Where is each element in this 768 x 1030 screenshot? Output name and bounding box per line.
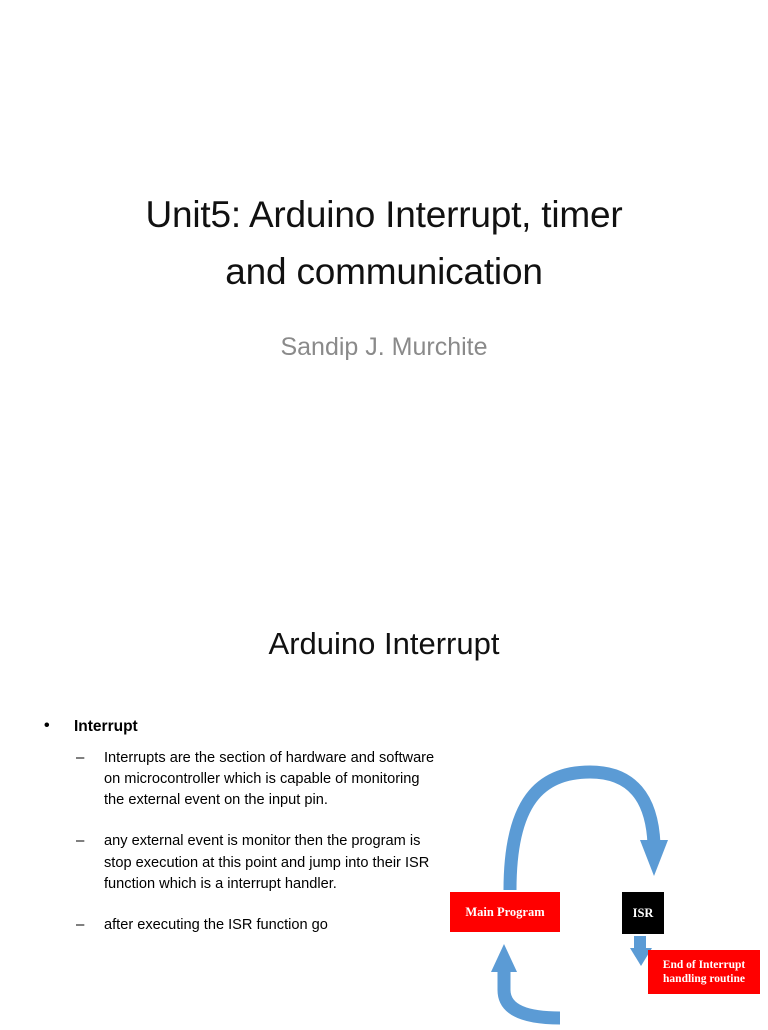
presentation-author: Sandip J. Murchite bbox=[60, 333, 708, 362]
list-item-text: Interrupts are the section of hardware a… bbox=[104, 750, 434, 808]
diagram-box-isr-label: ISR bbox=[633, 906, 654, 921]
sub-bullet-list: – Interrupts are the section of hardware… bbox=[70, 748, 440, 956]
content-slide: Arduino Interrupt • Interrupt – Interrup… bbox=[0, 600, 768, 1024]
arrow-return-head bbox=[491, 944, 517, 972]
interrupt-flow-diagram: Main Program ISR End of Interrupt handli… bbox=[440, 740, 760, 1030]
bullet-interrupt: • Interrupt bbox=[38, 718, 438, 736]
arrow-main-to-isr-head bbox=[640, 840, 668, 876]
list-item-text: any external event is monitor then the p… bbox=[104, 833, 429, 891]
diagram-box-end-of-interrupt: End of Interrupt handling routine bbox=[648, 950, 760, 994]
presentation-title-line2: and communication bbox=[225, 251, 542, 292]
dash-bullet-icon: – bbox=[76, 830, 84, 852]
list-item: – Interrupts are the section of hardware… bbox=[70, 748, 440, 811]
diagram-box-end-of-interrupt-line1: End of Interrupt bbox=[663, 958, 745, 972]
presentation-title-line1: Unit5: Arduino Interrupt, timer bbox=[145, 194, 622, 235]
diagram-box-end-of-interrupt-line2: handling routine bbox=[663, 972, 745, 986]
title-slide: Unit5: Arduino Interrupt, timer and comm… bbox=[0, 0, 768, 600]
bullet-dot-icon: • bbox=[44, 718, 50, 734]
arrow-main-to-isr-curve bbox=[510, 772, 654, 890]
list-item-text: after executing the ISR function go bbox=[104, 917, 328, 933]
presentation-title: Unit5: Arduino Interrupt, timer and comm… bbox=[60, 186, 708, 301]
diagram-box-main-program-label: Main Program bbox=[465, 905, 544, 920]
list-item: – any external event is monitor then the… bbox=[70, 831, 440, 894]
arrow-return-curve bbox=[504, 990, 560, 1018]
diagram-box-main-program: Main Program bbox=[450, 892, 560, 932]
slide-heading: Arduino Interrupt bbox=[60, 626, 708, 662]
list-item: – after executing the ISR function go bbox=[70, 915, 440, 936]
dash-bullet-icon: – bbox=[76, 914, 84, 936]
diagram-box-isr: ISR bbox=[622, 892, 664, 934]
dash-bullet-icon: – bbox=[76, 747, 84, 769]
bullet-interrupt-label: Interrupt bbox=[74, 718, 438, 736]
